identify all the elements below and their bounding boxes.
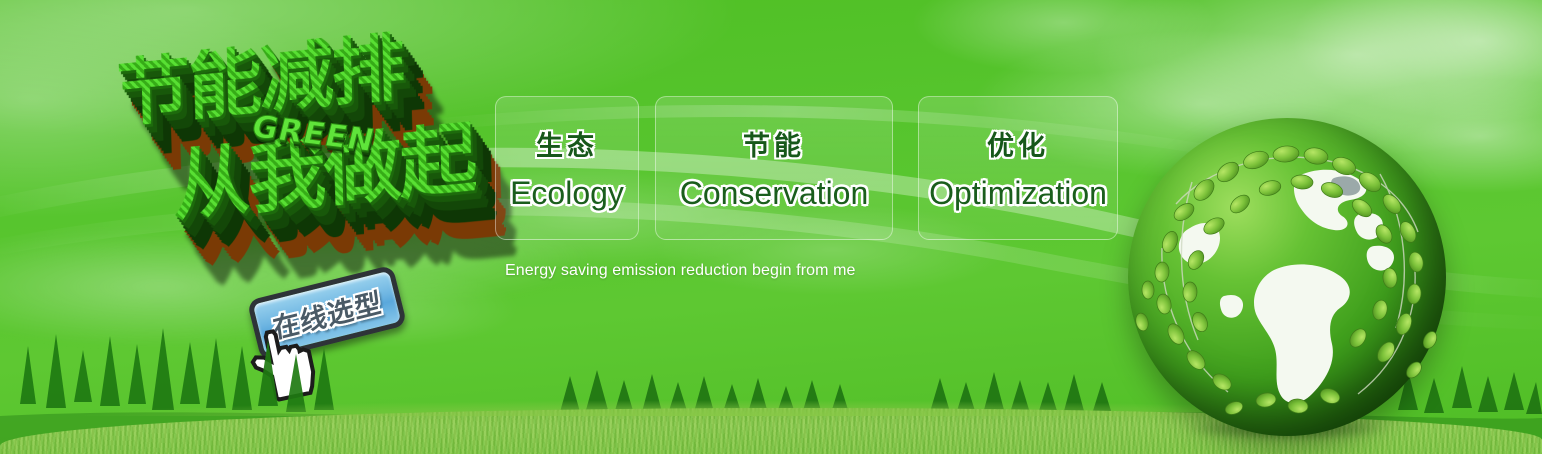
feature-card-optimization-en: Optimization [929,175,1107,212]
feature-card-conservation-en: Conservation [680,175,869,212]
banner-tagline: Energy saving emission reduction begin f… [505,262,856,280]
feature-card-ecology-en: Ecology [510,175,624,212]
feature-card-ecology-cn: 生态 [536,124,598,163]
feature-card-optimization-cn: 优化 [987,124,1049,163]
feature-card-ecology[interactable]: 生态 Ecology [495,96,639,240]
feature-card-conservation[interactable]: 节能 Conservation [655,96,893,240]
eco-banner: 节能减排 从我做起 GREEN 在线选型 [0,0,1542,454]
feature-card-conservation-cn: 节能 [743,124,805,163]
feature-card-optimization[interactable]: 优化 Optimization [918,96,1118,240]
feature-card-group: 生态 Ecology 节能 Conservation 优化 Optimizati… [0,0,1542,454]
